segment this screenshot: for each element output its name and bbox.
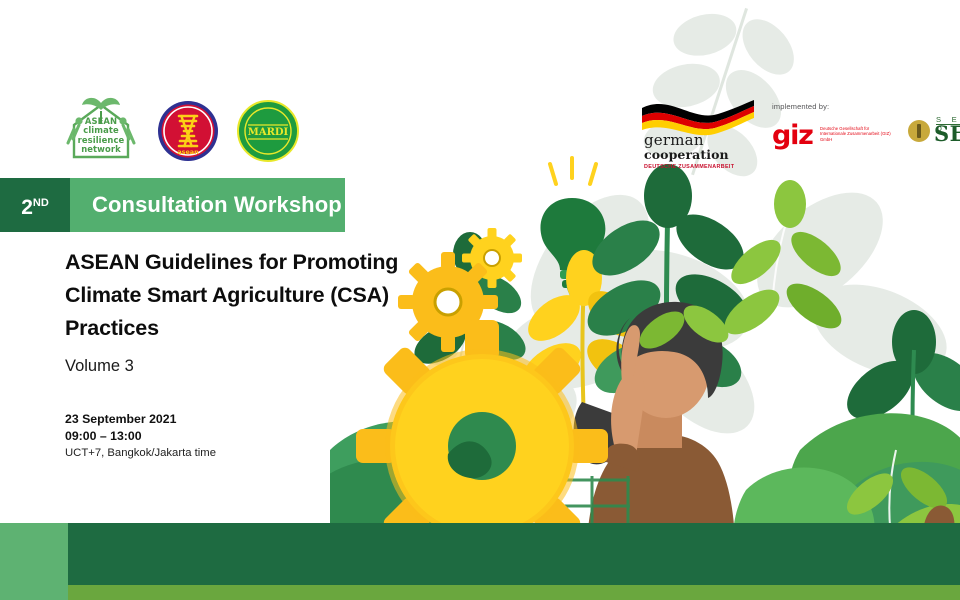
giz-logo: implemented by: giz Deutsche Gesellschaf… (772, 100, 894, 162)
mardi-logo: MARDI (236, 99, 300, 163)
partner-logos-right: german cooperation DEUTSCHE ZUSAMMENARBE… (640, 92, 960, 170)
page-title: ASEAN Guidelines for Promoting Climate S… (65, 246, 465, 345)
banner-label-box: Consultation Workshop (70, 178, 345, 232)
asean-emblem-icon: asean (156, 99, 220, 163)
workshop-banner: 2ND Consultation Workshop (0, 178, 345, 232)
searca-wordmark: SEARCA (934, 123, 960, 145)
title-line-1: ASEAN Guidelines for Promoting (65, 246, 465, 279)
gc-line2: cooperation (644, 148, 734, 162)
german-cooperation-logo: german cooperation DEUTSCHE ZUSAMMENARBE… (640, 96, 758, 166)
event-details: 23 September 2021 09:00 – 13:00 UCT+7, B… (65, 411, 216, 462)
acrn-wordmark: ASEAN climate resilience network (62, 117, 140, 155)
poster-canvas: ASEAN climate resilience network (0, 0, 960, 600)
german-cooperation-wordmark: german cooperation DEUTSCHE ZUSAMMENARBE… (644, 132, 734, 170)
mardi-seal-icon: MARDI (236, 99, 300, 163)
title-line-3: Practices (65, 312, 465, 345)
banner-ordinal: 2ND (21, 193, 49, 218)
footer-bar-dark (68, 523, 960, 585)
gc-line1: german (644, 132, 734, 148)
mardi-label: MARDI (248, 127, 289, 138)
asean-emblem-label: asean (177, 148, 199, 156)
event-time: 09:00 – 13:00 (65, 428, 216, 445)
implemented-by-label: implemented by: (772, 102, 829, 111)
title-line-2: Climate Smart Agriculture (CSA) (65, 279, 465, 312)
giz-wordmark: giz (772, 122, 813, 149)
event-date: 23 September 2021 (65, 411, 216, 428)
asean-emblem-logo: asean (156, 99, 220, 163)
searca-seal-icon (908, 120, 930, 142)
asean-climate-resilience-network-logo: ASEAN climate resilience network (62, 95, 140, 167)
partner-logos-left: ASEAN climate resilience network (62, 92, 300, 170)
giz-subtext: Deutsche Gesellschaft für Internationale… (820, 126, 892, 142)
banner-label: Consultation Workshop (92, 192, 342, 218)
footer-bar-left (0, 523, 68, 600)
seameo-searca-logo: S E A M E O SEARCA (908, 108, 960, 154)
banner-ordinal-box: 2ND (0, 178, 70, 232)
footer-bar-bottom (68, 585, 960, 600)
gc-line3: DEUTSCHE ZUSAMMENARBEIT (644, 164, 734, 170)
event-timezone: UCT+7, Bangkok/Jakarta time (65, 445, 216, 462)
german-flag-swoosh-icon (640, 96, 758, 136)
volume-label: Volume 3 (65, 357, 134, 376)
